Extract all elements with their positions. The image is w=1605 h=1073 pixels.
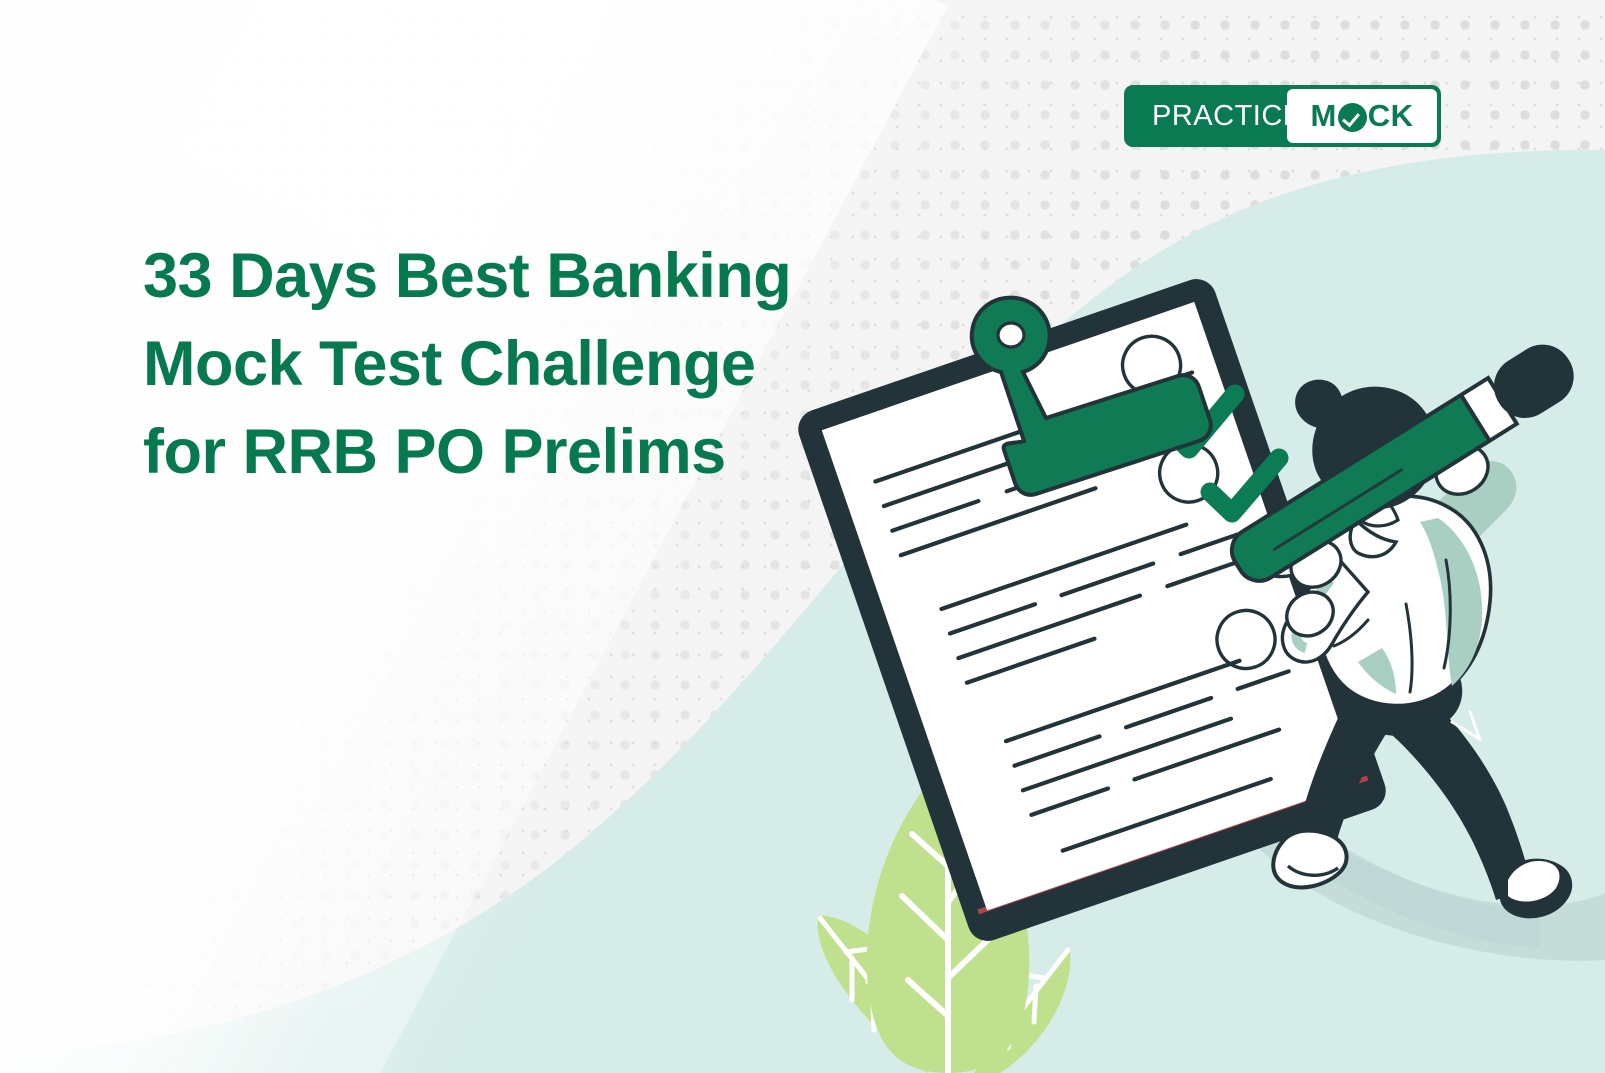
logo-mock-suffix: CK xyxy=(1368,98,1414,134)
check-icon xyxy=(1338,103,1367,132)
mint-background-blob xyxy=(0,0,1605,1073)
headline-line-1: 33 Days Best Banking xyxy=(143,232,923,320)
headline-line-3: for RRB PO Prelims xyxy=(143,408,923,496)
promo-banner: PRACTICE M CK 33 Days Best Banking Mock … xyxy=(0,0,1605,1073)
practicemock-logo[interactable]: PRACTICE M CK xyxy=(1124,85,1441,147)
logo-mock-text: M CK xyxy=(1310,98,1413,134)
headline-line-2: Mock Test Challenge xyxy=(143,320,923,408)
logo-mock-prefix: M xyxy=(1310,98,1336,134)
logo-mock-box: M CK xyxy=(1287,89,1437,143)
page-title: 33 Days Best Banking Mock Test Challenge… xyxy=(143,232,923,496)
